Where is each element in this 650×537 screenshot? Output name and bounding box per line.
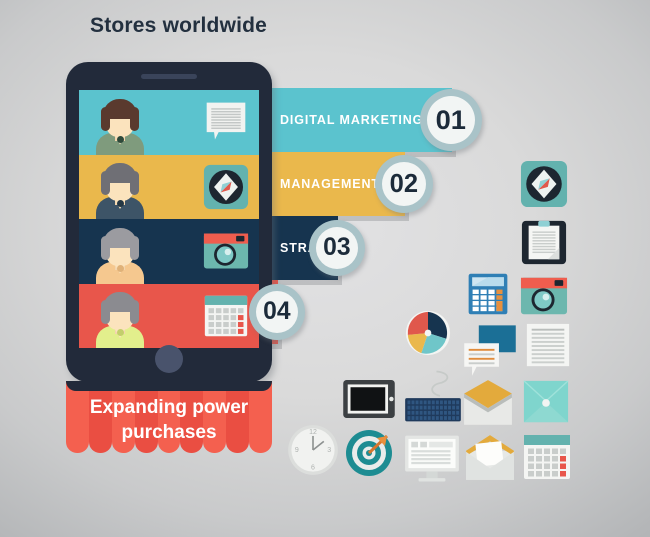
avatar: [93, 226, 147, 284]
open-envelope-icon[interactable]: [464, 432, 516, 484]
phone-row-4[interactable]: [79, 284, 259, 349]
document-bubble-icon[interactable]: [203, 99, 249, 145]
clipboard-icon[interactable]: [520, 218, 568, 266]
avatar: [93, 97, 147, 155]
svg-text:3: 3: [327, 447, 331, 454]
svg-text:9: 9: [295, 447, 299, 454]
phone-row-1[interactable]: [79, 90, 259, 155]
step-badge-04[interactable]: 04: [249, 284, 305, 340]
phone-row-3[interactable]: [79, 219, 259, 284]
step-badge-01[interactable]: 01: [420, 89, 482, 151]
awning-banner: Expanding power purchases: [66, 381, 272, 453]
phone-screen: [79, 90, 259, 348]
page-title: Stores worldwide: [90, 14, 267, 38]
target-icon[interactable]: [344, 428, 394, 478]
clock-icon[interactable]: 12369: [286, 423, 340, 477]
phone-home-button[interactable]: [155, 345, 183, 373]
compass-icon[interactable]: [203, 164, 249, 210]
calendar-icon[interactable]: [522, 432, 572, 482]
envelope-icon[interactable]: [462, 378, 514, 430]
step-badge-02[interactable]: 02: [375, 155, 433, 213]
step-badge-number: 04: [256, 291, 298, 333]
awning-text: Expanding power purchases: [66, 395, 272, 445]
document-icon[interactable]: [524, 322, 572, 370]
calculator-icon[interactable]: [466, 272, 510, 316]
step-badge-number: 01: [427, 96, 475, 144]
camera-icon[interactable]: [203, 228, 249, 274]
svg-text:12: 12: [309, 429, 317, 436]
awning-line-2: purchases: [66, 420, 272, 445]
svg-text:6: 6: [311, 464, 315, 471]
monitor-icon[interactable]: [404, 430, 460, 486]
step-bar-label: DIGITAL MARKETING: [280, 113, 423, 127]
awning-cap: [66, 381, 272, 391]
calendar-icon[interactable]: [203, 293, 249, 339]
step-badge-number: 03: [316, 227, 358, 269]
awning-line-1: Expanding power: [66, 395, 272, 420]
step-badge-number: 02: [382, 162, 426, 206]
step-badge-03[interactable]: 03: [309, 220, 365, 276]
step-bar-label: MANAGEMENT: [280, 177, 380, 191]
avatar: [93, 161, 147, 219]
phone-mockup: [66, 62, 272, 382]
infographic-canvas: Stores worldwide DIGITAL MARKETINGMANAGE…: [0, 0, 650, 537]
chat-bubbles-icon[interactable]: [462, 322, 518, 378]
keyboard-icon[interactable]: [404, 368, 462, 426]
compass-icon[interactable]: [520, 160, 568, 208]
avatar: [93, 290, 147, 348]
tablet-icon[interactable]: [341, 371, 397, 427]
folder-icon[interactable]: [522, 378, 570, 426]
phone-speaker: [141, 74, 197, 79]
phone-row-2[interactable]: [79, 155, 259, 220]
camera-icon[interactable]: [520, 272, 568, 320]
pie-chart-icon[interactable]: [404, 309, 452, 357]
